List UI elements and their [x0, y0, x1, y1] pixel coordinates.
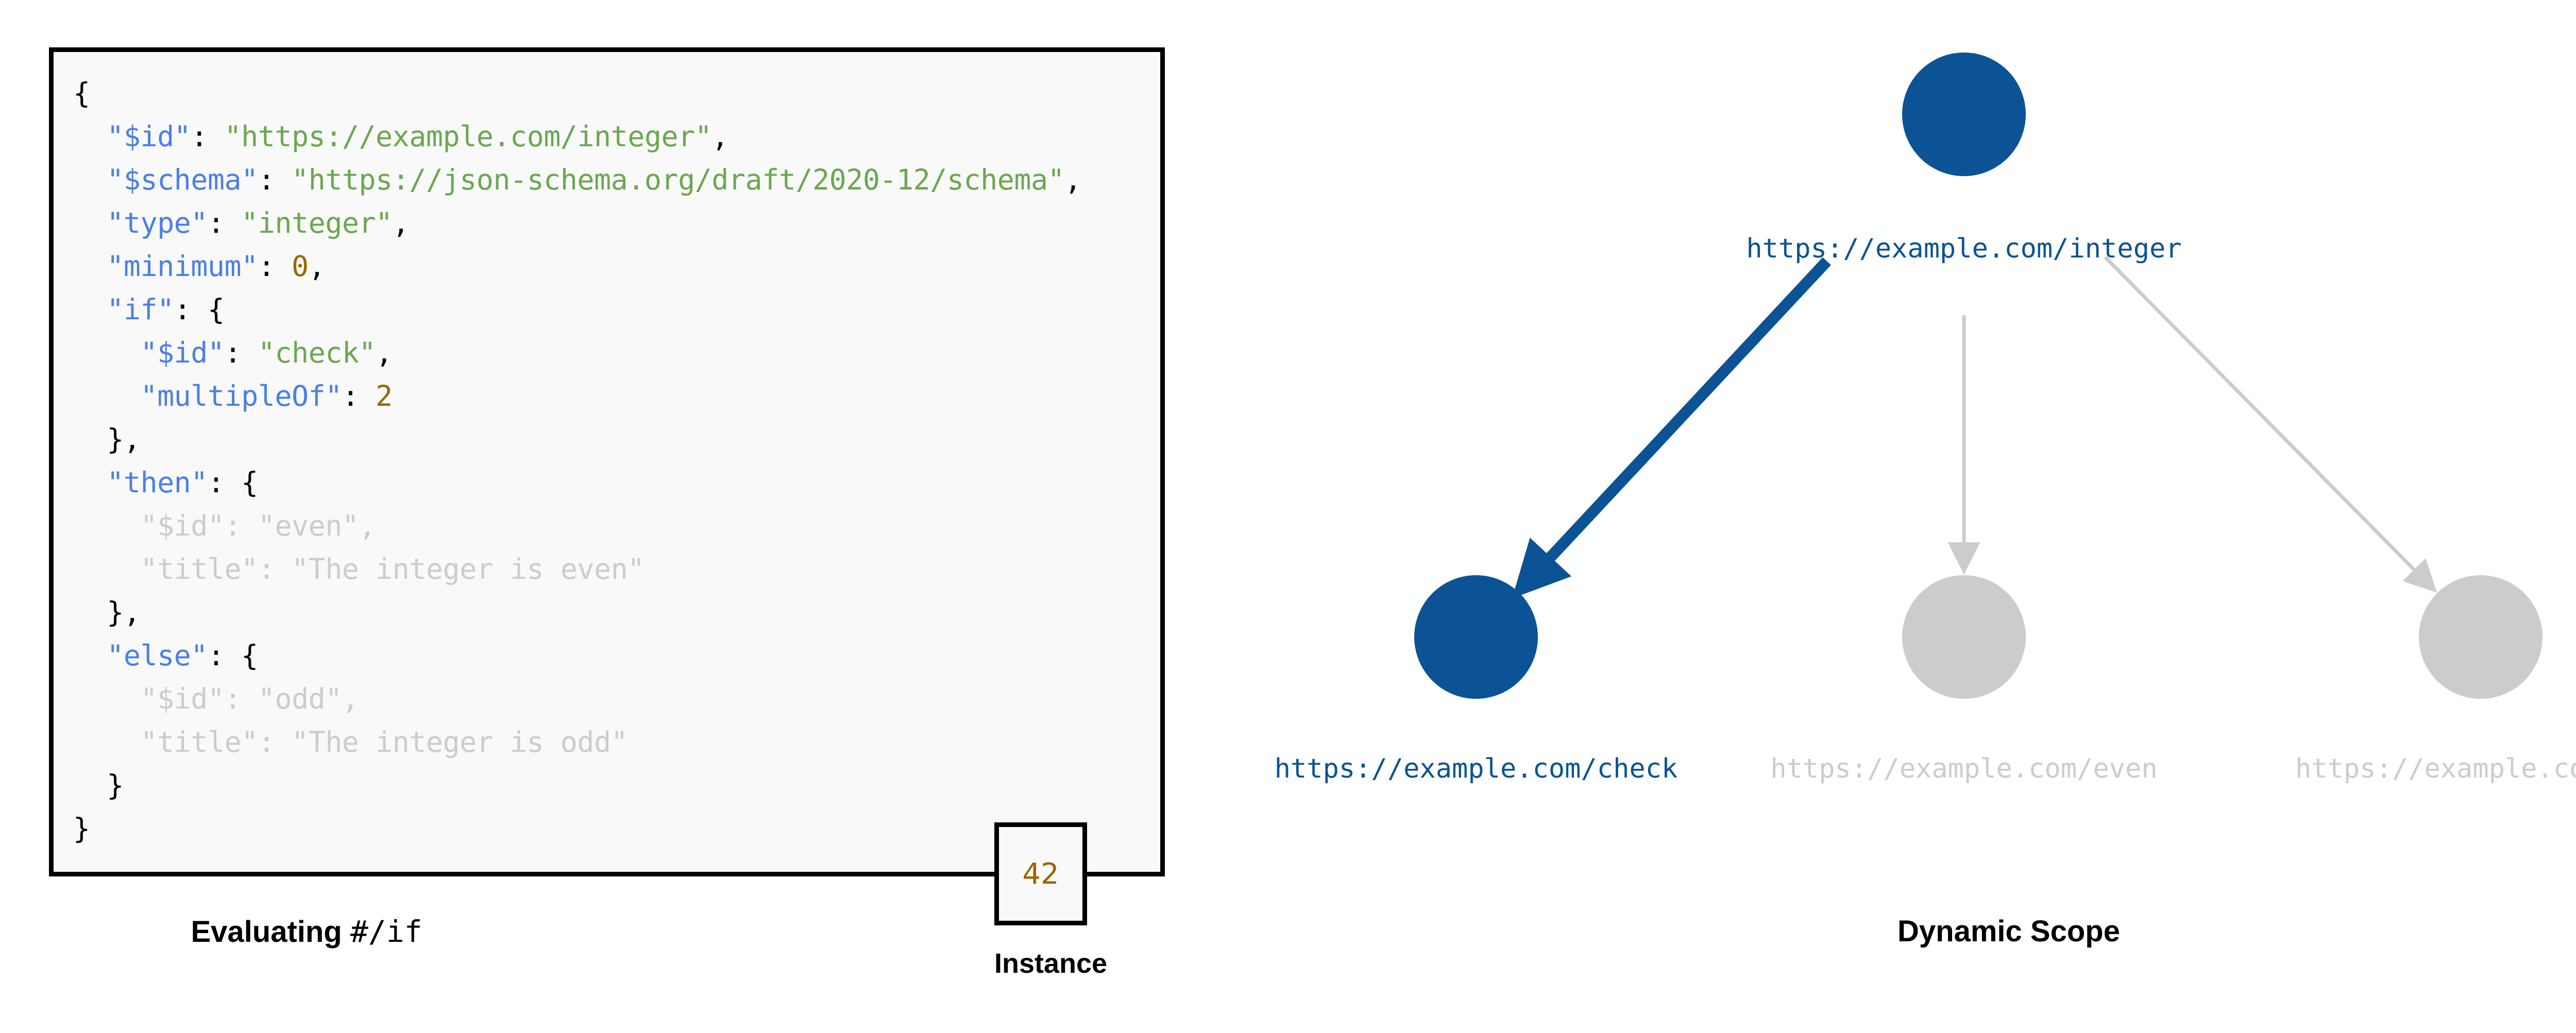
code-token: : [225, 336, 258, 369]
code-token: "$schema" [107, 163, 258, 196]
code-token: , [711, 120, 728, 153]
code-token: "check" [258, 336, 376, 369]
code-token: : [258, 250, 292, 283]
code-token: }, [107, 596, 140, 629]
code-token: } [107, 769, 124, 802]
code-token: "title": "The integer is odd" [140, 726, 628, 759]
code-line: "$id": "odd", [73, 677, 1081, 720]
code-line: "else": { [73, 634, 1081, 677]
code-line: "multipleOf": 2 [73, 374, 1081, 418]
code-token: , [1064, 163, 1081, 196]
code-token: : [342, 380, 376, 412]
code-token: 0 [292, 250, 309, 283]
code-line: } [73, 764, 1081, 807]
code-token: "$id": "odd", [140, 682, 359, 715]
code-token: } [73, 812, 90, 845]
code-token: : { [208, 639, 258, 672]
nodes-group [1414, 53, 2543, 699]
code-line: } [73, 807, 1081, 850]
scope-node-label-odd: https://example.com/odd [2295, 753, 2576, 784]
code-token: "https://json-schema.org/draft/2020-12/s… [292, 163, 1064, 196]
code-token: : [258, 163, 292, 196]
code-token: }, [107, 423, 140, 456]
code-token: , [393, 206, 410, 239]
scope-node-label-check: https://example.com/check [1275, 753, 1678, 784]
code-token: : { [174, 293, 225, 326]
scope-node-label-even: https://example.com/even [1770, 753, 2157, 784]
dynamic-scope-graph: https://example.com/integerhttps://examp… [1185, 0, 2576, 1033]
code-line: "minimum": 0, [73, 245, 1081, 288]
code-token: : { [208, 466, 258, 499]
scope-node-integer[interactable] [1902, 53, 2026, 176]
evaluating-caption-pointer: #/if [350, 914, 422, 949]
scope-edge-integer-to-odd [2105, 257, 2429, 585]
code-line: { [73, 72, 1081, 115]
code-line: "$id": "check", [73, 331, 1081, 374]
code-line: "title": "The integer is even" [73, 547, 1081, 591]
dynamic-scope-caption: Dynamic Scope [1185, 914, 2576, 949]
code-token: "type" [107, 206, 208, 239]
evaluating-caption-prefix: Evaluating [191, 915, 350, 949]
code-line: }, [73, 591, 1081, 634]
schema-panel: { "$id": "https://example.com/integer", … [0, 0, 1185, 1033]
code-token: 2 [376, 380, 393, 412]
instance-box: 42 [994, 822, 1087, 925]
code-token: "$id" [107, 120, 191, 153]
scope-node-check[interactable] [1414, 575, 1538, 699]
dynamic-scope-panel: https://example.com/integerhttps://examp… [1185, 0, 2576, 1033]
code-line: "$id": "even", [73, 504, 1081, 547]
code-token: "minimum" [107, 250, 258, 283]
schema-code-listing: { "$id": "https://example.com/integer", … [73, 72, 1081, 850]
code-token: , [376, 336, 393, 369]
edges-group [1526, 257, 2429, 585]
instance-caption: Instance [994, 948, 1087, 979]
code-line: "$schema": "https://json-schema.org/draf… [73, 158, 1081, 201]
code-token: "https://example.com/integer" [225, 120, 712, 153]
code-token: "then" [107, 466, 208, 499]
code-line: "then": { [73, 461, 1081, 504]
evaluating-caption: Evaluating #/if [49, 914, 564, 949]
code-token: "integer" [241, 206, 393, 239]
code-token: "multipleOf" [140, 380, 342, 412]
scope-node-odd[interactable] [2419, 575, 2543, 699]
instance-value: 42 [1022, 857, 1059, 891]
code-token: "$id" [140, 336, 224, 369]
scope-node-even[interactable] [1902, 575, 2026, 699]
scope-node-label-integer: https://example.com/integer [1746, 233, 2181, 264]
code-line: "type": "integer", [73, 201, 1081, 245]
node-labels-group: https://example.com/integerhttps://examp… [1275, 233, 2576, 784]
code-token: "else" [107, 639, 208, 672]
code-line: }, [73, 418, 1081, 461]
code-token: , [309, 250, 326, 283]
code-token: : [191, 120, 224, 153]
schema-code-box: { "$id": "https://example.com/integer", … [49, 47, 1165, 876]
code-line: "if": { [73, 288, 1081, 331]
code-token: "title": "The integer is even" [140, 553, 644, 586]
code-token: "if" [107, 293, 174, 326]
code-line: "title": "The integer is odd" [73, 720, 1081, 764]
code-token: : [208, 206, 241, 239]
code-token: { [73, 77, 90, 110]
scope-edge-integer-to-check [1526, 261, 1827, 583]
code-token: "$id": "even", [140, 509, 376, 542]
code-line: "$id": "https://example.com/integer", [73, 115, 1081, 158]
